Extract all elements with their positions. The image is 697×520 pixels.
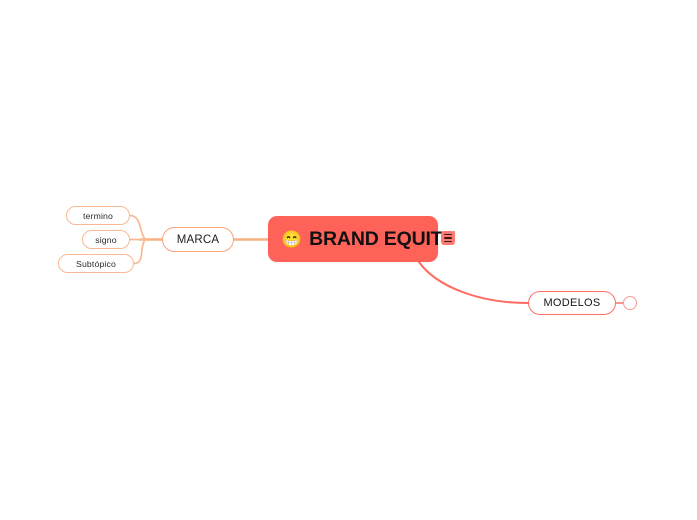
node-termino[interactable]: termino [66,206,130,225]
edge-termino-to-marca [130,216,145,240]
node-subtopico[interactable]: Subtópico [58,254,134,273]
node-marca[interactable]: MARCA [162,227,234,252]
hamburger-line-3 [444,241,452,242]
node-subtopico-label: Subtópico [76,259,116,269]
edge-root-to-modelos [419,262,528,303]
node-marca-label: MARCA [177,234,220,246]
node-termino-label: termino [83,211,113,221]
hamburger-notes-icon[interactable] [441,231,455,245]
node-signo-label: signo [95,235,117,245]
edge-subtopico-to-marca [134,240,145,264]
hamburger-line-2 [444,237,452,238]
collapse-children-circle[interactable] [623,296,637,310]
grinning-face-with-smiling-eyes-icon: 😁 [281,231,302,248]
mindmap-canvas[interactable]: 😁 BRAND EQUITY MARCA termino signo Subtó… [0,0,697,520]
root-node-brand-equity[interactable]: 😁 BRAND EQUITY [268,216,438,262]
node-modelos[interactable]: MODELOS [528,291,616,315]
hamburger-line-1 [444,234,452,235]
node-signo[interactable]: signo [82,230,130,249]
root-node-label: BRAND EQUITY [309,228,455,251]
node-modelos-label: MODELOS [543,297,600,309]
